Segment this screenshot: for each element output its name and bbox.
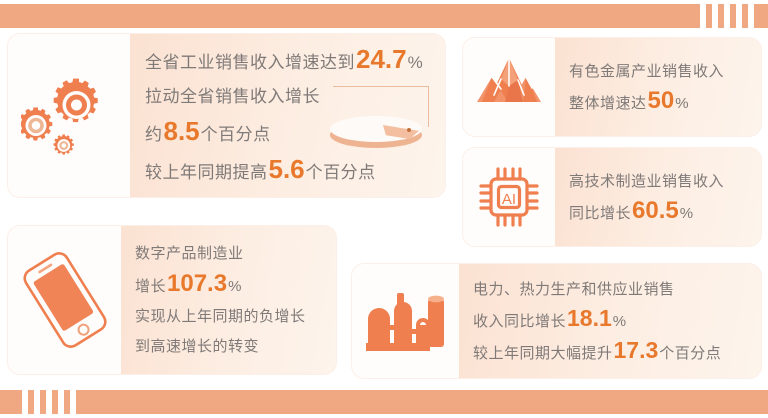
text-pane: 有色金属产业销售收入 整体增速达50% [555,38,761,136]
text-segment: 实现从上年同期的负增长 [135,302,306,332]
text-pane: 数字产品制造业 增长107.3% 实现从上年同期的负增长 到高速增长的转变 [121,226,336,374]
stat-number: 8.5 [163,114,201,148]
stat-unit: % [680,199,694,228]
stripe [58,386,64,418]
text-segment: 整体增速达 [569,89,647,118]
stat-line: 整体增速达50% [569,86,761,118]
icon-pane: AI [463,148,555,246]
power-plant-icon [364,285,448,357]
stripe [22,386,28,418]
top-stripe-band [0,4,768,28]
stripe [46,386,52,418]
stat-number: 107.3 [166,269,228,299]
stat-unit: 个百分点 [306,156,376,190]
text-segment: 到高速增长的转变 [135,332,259,362]
text-segment: 高技术制造业销售收入 [569,167,724,196]
stat-unit: % [408,46,424,80]
pie-dot [407,128,411,132]
text-segment: 增长 [135,272,166,302]
stripe [724,0,730,32]
stat-line: 全省工业销售收入增速达到24.7% [145,42,445,80]
stat-number: 18.1 [566,304,613,333]
stat-number: 50 [647,86,676,115]
stripe [34,386,40,418]
stat-number: 5.6 [268,152,306,186]
stat-line: 较上年同期提高5.6个百分点 [145,152,445,190]
gears-icon [21,64,117,168]
text-segment: 较上年同期提高 [145,156,268,190]
stat-unit: % [675,89,689,118]
stat-line: 数字产品制造业 [135,239,336,269]
bottom-stripe-band [0,390,768,414]
stat-number: 24.7 [355,42,408,76]
stat-line: 实现从上年同期的负增长 [135,302,336,332]
text-segment: 较上年同期大幅提升 [473,339,613,368]
stripe [70,386,76,418]
stat-card-industry: 全省工业销售收入增速达到24.7% 拉动全省销售收入增长 约8.5个百分点 较上… [8,34,445,197]
text-pane: 高技术制造业销售收入 同比增长60.5% [555,148,761,246]
stat-line: 增长107.3% [135,269,336,302]
pie-chart-decoration [330,86,435,148]
icon-pane [8,226,121,374]
stat-line: 到高速增长的转变 [135,332,336,362]
text-pane: 全省工业销售收入增速达到24.7% 拉动全省销售收入增长 约8.5个百分点 较上… [130,34,445,197]
stat-line: 同比增长60.5% [569,196,761,228]
stripe [736,0,742,32]
stat-number: 17.3 [613,336,660,365]
stat-unit: % [613,307,627,336]
text-segment: 收入同比增长 [473,307,566,336]
text-segment: 同比增长 [569,199,631,228]
ai-chip-icon: AI [475,163,543,231]
text-segment: 数字产品制造业 [135,239,244,269]
stat-line: 收入同比增长18.1% [473,304,761,336]
icon-pane [352,264,459,378]
stripe [700,0,706,32]
svg-text:AI: AI [502,191,516,208]
mountain-ore-icon [474,55,544,119]
text-segment: 拉动全省销售收入增长 [145,80,320,114]
text-segment: 约 [145,118,163,152]
stat-card-metals: 有色金属产业销售收入 整体增速达50% [463,38,761,136]
stat-line: 高技术制造业销售收入 [569,167,761,196]
top-stripe-group [700,0,754,32]
stripe [712,0,718,32]
stat-card-power: 电力、热力生产和供应业销售 收入同比增长18.1% 较上年同期大幅提升17.3个… [352,264,761,378]
stat-unit: 个百分点 [201,118,271,152]
stripe [748,0,754,32]
stat-number: 60.5 [631,196,680,225]
bottom-stripe-group [22,386,76,418]
stat-unit: 个百分点 [659,339,721,368]
text-segment: 全省工业销售收入增速达到 [145,46,355,80]
icon-pane [8,34,130,197]
text-segment: 电力、热力生产和供应业销售 [473,275,675,304]
infographic-canvas: 全省工业销售收入增速达到24.7% 拉动全省销售收入增长 约8.5个百分点 较上… [0,0,768,418]
text-segment: 有色金属产业销售收入 [569,57,724,86]
smartphone-icon [19,248,111,352]
text-pane: 电力、热力生产和供应业销售 收入同比增长18.1% 较上年同期大幅提升17.3个… [459,264,761,378]
stat-card-digital: 数字产品制造业 增长107.3% 实现从上年同期的负增长 到高速增长的转变 [8,226,336,374]
stat-line: 较上年同期大幅提升17.3个百分点 [473,336,761,368]
stat-line: 电力、热力生产和供应业销售 [473,275,761,304]
stat-line: 有色金属产业销售收入 [569,57,761,86]
pie-disc [330,116,422,146]
icon-pane [463,38,555,136]
stat-unit: % [228,272,242,302]
stat-card-hitech: AI 高技术制造业销售收入 同比增长60.5% [463,148,761,246]
